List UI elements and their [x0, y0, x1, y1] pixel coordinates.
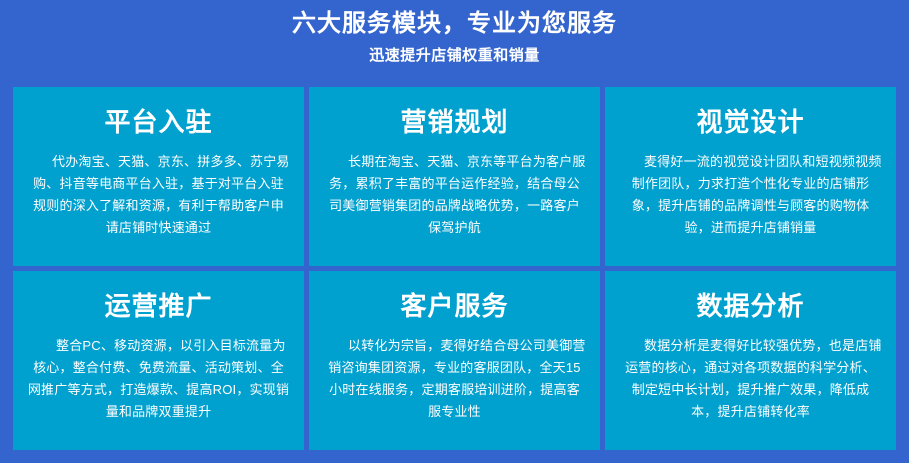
service-card-title: 客户服务 [400, 289, 508, 323]
page-header: 六大服务模块，专业为您服务 迅速提升店铺权重和销量 [0, 0, 909, 66]
service-card-data-analysis[interactable]: 数据分析 数据分析是麦得好比较强优势，也是店铺运营的核心，通过对各项数据的科学分… [605, 271, 896, 450]
service-card-body: 整合PC、移动资源，以引入目标流量为核心，整合付费、免费流量、活动策划、全网推广… [27, 335, 290, 423]
service-card-title: 数据分析 [696, 289, 804, 323]
service-card-platform-entry[interactable]: 平台入驻 代办淘宝、天猫、京东、拼多多、苏宁易购、抖音等电商平台入驻，基于对平台… [13, 87, 304, 266]
service-card-title: 视觉设计 [696, 105, 804, 139]
service-card-operations-promotion[interactable]: 运营推广 整合PC、移动资源，以引入目标流量为核心，整合付费、免费流量、活动策划… [13, 271, 304, 450]
service-card-body: 麦得好一流的视觉设计团队和短视频视频制作团队，力求打造个性化专业的店铺形象，提升… [619, 151, 882, 239]
service-card-body: 代办淘宝、天猫、京东、拼多多、苏宁易购、抖音等电商平台入驻，基于对平台入驻规则的… [27, 151, 290, 239]
page-title: 六大服务模块，专业为您服务 [0, 9, 909, 39]
service-card-visual-design[interactable]: 视觉设计 麦得好一流的视觉设计团队和短视频视频制作团队，力求打造个性化专业的店铺… [605, 87, 896, 266]
service-card-title: 营销规划 [400, 105, 508, 139]
service-card-body: 数据分析是麦得好比较强优势，也是店铺运营的核心，通过对各项数据的科学分析、制定短… [619, 335, 882, 423]
service-cards-grid: 平台入驻 代办淘宝、天猫、京东、拼多多、苏宁易购、抖音等电商平台入驻，基于对平台… [13, 87, 896, 450]
service-card-title: 平台入驻 [104, 105, 212, 139]
service-card-marketing-planning[interactable]: 营销规划 长期在淘宝、天猫、京东等平台为客户服务，累积了丰富的平台运作经验，结合… [309, 87, 600, 266]
service-card-body: 以转化为宗旨，麦得好结合母公司美御营销咨询集团资源，专业的客服团队，全天15小时… [323, 335, 586, 423]
service-card-title: 运营推广 [104, 289, 212, 323]
service-card-body: 长期在淘宝、天猫、京东等平台为客户服务，累积了丰富的平台运作经验，结合母公司美御… [323, 151, 586, 239]
service-modules-page: 六大服务模块，专业为您服务 迅速提升店铺权重和销量 平台入驻 代办淘宝、天猫、京… [0, 0, 909, 463]
page-subtitle: 迅速提升店铺权重和销量 [0, 39, 909, 66]
service-card-customer-service[interactable]: 客户服务 以转化为宗旨，麦得好结合母公司美御营销咨询集团资源，专业的客服团队，全… [309, 271, 600, 450]
